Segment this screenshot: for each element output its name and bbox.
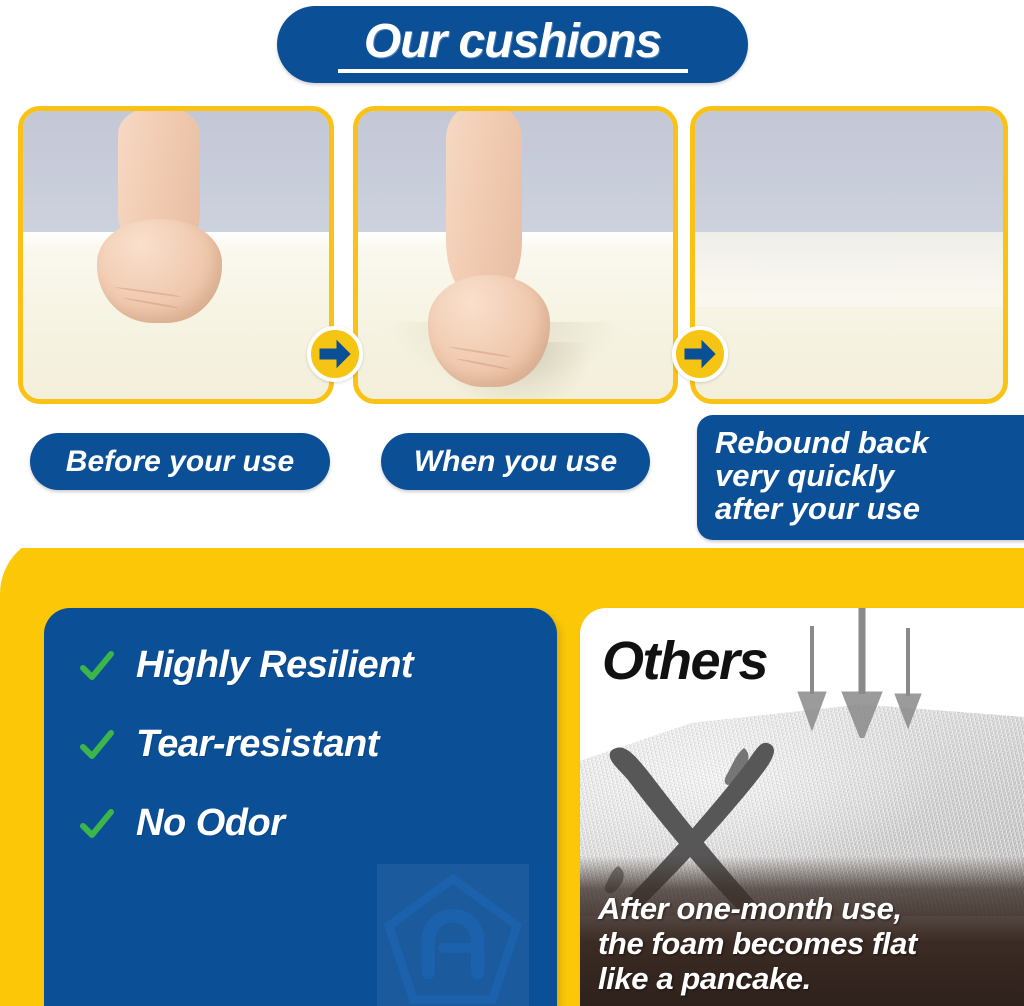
check-icon (80, 807, 114, 841)
features-list: Highly Resilient Tear-resistant No Odor (80, 644, 547, 845)
our-cushions-demo-section: Our cushions (0, 0, 1024, 548)
list-item: Tear-resistant (80, 723, 547, 766)
arrow-right-icon (307, 326, 363, 382)
photo-content (23, 111, 329, 399)
foam-flat-surface (695, 232, 1003, 307)
check-icon (80, 728, 114, 762)
badge-line: after your use (715, 492, 1024, 525)
list-item: Highly Resilient (80, 644, 547, 687)
photo-content (695, 111, 1003, 399)
status-badge: Before your use (30, 433, 330, 490)
page-title-text: Our cushions (364, 17, 661, 67)
fist-shape (97, 219, 222, 323)
comparison-section: Highly Resilient Tear-resistant No Odor (0, 534, 1024, 1006)
badge-line: Rebound back (715, 426, 1024, 459)
pressure-arrows-group (580, 608, 1024, 738)
caption-line: like a pancake. (598, 961, 917, 996)
page-title: Our cushions (277, 6, 748, 83)
feature-label: Highly Resilient (136, 644, 413, 687)
pentagon-a-logo-icon (377, 864, 529, 1006)
check-icon (80, 649, 114, 683)
feature-label: Tear-resistant (136, 723, 379, 766)
others-caption: After one-month use, the foam becomes fl… (598, 891, 917, 996)
demo-photo-row (0, 106, 1024, 404)
others-comparison-panel: Others (580, 608, 1024, 1006)
list-item: No Odor (80, 802, 547, 845)
photo-background-wall (695, 111, 1003, 235)
title-underline (338, 69, 688, 73)
caption-line: After one-month use, (598, 891, 917, 926)
fist-resting-on-foam-photo (18, 106, 334, 404)
caption-line: the foam becomes flat (598, 926, 917, 961)
fist-shape (428, 275, 550, 387)
forearm-shape (446, 106, 522, 299)
arrow-right-icon (672, 326, 728, 382)
badge-line: very quickly (715, 459, 1024, 492)
photo-content (358, 111, 673, 399)
status-badge: Rebound back very quickly after your use (697, 415, 1024, 540)
feature-label: No Odor (136, 802, 284, 845)
our-cushion-features-panel: Highly Resilient Tear-resistant No Odor (44, 608, 557, 1006)
status-badge: When you use (381, 433, 650, 490)
foam-rebounded-flat-photo (690, 106, 1008, 404)
fist-pressing-into-foam-photo (353, 106, 678, 404)
